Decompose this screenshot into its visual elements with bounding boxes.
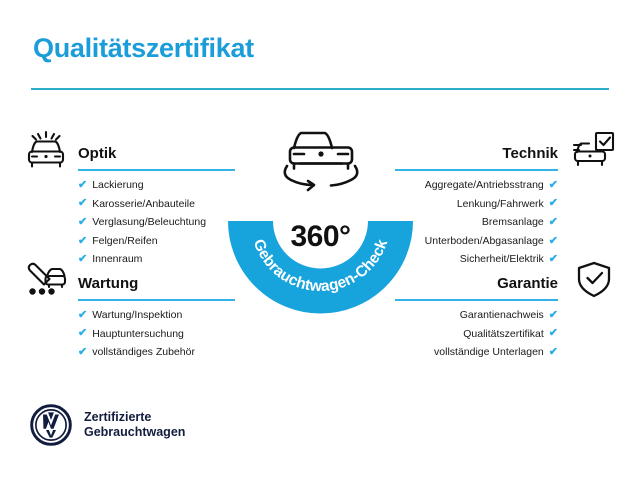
section-wartung: Wartung ✔Wartung/Inspektion ✔Hauptunters… [20, 258, 240, 362]
section-garantie-list: Garantienachweis✔ Qualitätszertifikat✔ v… [395, 306, 558, 362]
check-icon: ✔ [549, 180, 558, 191]
check-icon: ✔ [549, 217, 558, 228]
list-item: Bremsanlage✔ [395, 213, 558, 232]
list-item-label: Unterboden/Abgasanlage [425, 232, 544, 251]
list-item: ✔Hauptuntersuchung [78, 325, 240, 344]
check-icon: ✔ [549, 198, 558, 209]
list-item-label: Karosserie/Anbauteile [92, 195, 195, 214]
section-technik-title: Technik [502, 145, 558, 162]
list-item: ✔Lackierung [78, 176, 240, 195]
list-item-label: Hauptuntersuchung [92, 325, 184, 344]
footer-lockup: Zertifizierte Gebrauchtwagen [30, 404, 185, 446]
check-icon: ✔ [549, 328, 558, 339]
list-item: Garantienachweis✔ [395, 306, 558, 325]
list-item: vollständige Unterlagen✔ [395, 343, 558, 362]
list-item: ✔Karosserie/Anbauteile [78, 195, 240, 214]
page-title: Qualitätszertifikat [33, 33, 254, 64]
badge-ring-svg: Gebrauchtwagen-Check [228, 116, 413, 316]
list-item-label: Bremsanlage [482, 213, 544, 232]
list-item: Qualitätszertifikat✔ [395, 325, 558, 344]
section-garantie-divider [395, 299, 558, 301]
list-item: ✔vollständiges Zubehör [78, 343, 240, 362]
shield-check-icon [568, 258, 620, 302]
check-icon: ✔ [78, 180, 87, 191]
check-icon: ✔ [549, 310, 558, 321]
section-technik-divider [395, 169, 558, 171]
list-item-label: vollständiges Zubehör [92, 343, 195, 362]
car-rotate-icon [285, 133, 358, 190]
section-garantie: Garantie Garantienachweis✔ Qualitätszert… [395, 258, 620, 362]
wrench-car-icon [20, 258, 72, 302]
section-technik: Technik Aggregate/Antriebsstrang✔ Lenkun… [395, 128, 620, 269]
section-wartung-header: Wartung [20, 258, 240, 306]
list-item-label: Aggregate/Antriebsstrang [425, 176, 544, 195]
check-icon: ✔ [549, 347, 558, 358]
footer-text: Zertifizierte Gebrauchtwagen [84, 410, 185, 440]
footer-line-1: Zertifizierte [84, 410, 185, 425]
list-item-label: Qualitätszertifikat [463, 325, 544, 344]
section-wartung-list: ✔Wartung/Inspektion ✔Hauptuntersuchung ✔… [78, 306, 240, 362]
section-garantie-header: Garantie [395, 258, 620, 306]
section-wartung-title: Wartung [78, 275, 138, 292]
check-icon: ✔ [78, 310, 87, 321]
check-icon: ✔ [549, 236, 558, 247]
list-item: Unterboden/Abgasanlage✔ [395, 232, 558, 251]
volkswagen-logo [30, 404, 72, 446]
car-checkbox-icon [568, 128, 620, 172]
check-icon: ✔ [78, 347, 87, 358]
section-wartung-divider [78, 299, 235, 301]
certificate-page: Qualitätszertifikat Optik ✔Lackierun [0, 0, 640, 480]
list-item: Lenkung/Fahrwerk✔ [395, 195, 558, 214]
section-garantie-title: Garantie [497, 275, 558, 292]
section-technik-header: Technik [395, 128, 620, 176]
list-item: Aggregate/Antriebsstrang✔ [395, 176, 558, 195]
list-item-label: Wartung/Inspektion [92, 306, 182, 325]
check-icon: ✔ [78, 328, 87, 339]
section-optik-list: ✔Lackierung ✔Karosserie/Anbauteile ✔Verg… [78, 176, 240, 269]
section-optik-title: Optik [78, 145, 116, 162]
list-item-label: Verglasung/Beleuchtung [92, 213, 206, 232]
list-item-label: Lenkung/Fahrwerk [457, 195, 544, 214]
car-front-lights-icon [20, 128, 72, 172]
list-item-label: Lackierung [92, 176, 143, 195]
badge-degrees-label: 360° [228, 220, 413, 254]
check-icon: ✔ [78, 236, 87, 247]
badge-360-check: Gebrauchtwagen-Check 360° [228, 116, 413, 316]
section-optik-divider [78, 169, 235, 171]
list-item-label: vollständige Unterlagen [434, 343, 544, 362]
list-item-label: Felgen/Reifen [92, 232, 157, 251]
header-divider [31, 88, 609, 90]
section-technik-list: Aggregate/Antriebsstrang✔ Lenkung/Fahrwe… [395, 176, 558, 269]
section-optik-header: Optik [20, 128, 240, 176]
list-item: ✔Wartung/Inspektion [78, 306, 240, 325]
check-icon: ✔ [78, 198, 87, 209]
footer-line-2: Gebrauchtwagen [84, 425, 185, 440]
list-item: ✔Felgen/Reifen [78, 232, 240, 251]
check-icon: ✔ [78, 217, 87, 228]
list-item: ✔Verglasung/Beleuchtung [78, 213, 240, 232]
list-item-label: Garantienachweis [460, 306, 544, 325]
section-optik: Optik ✔Lackierung ✔Karosserie/Anbauteile… [20, 128, 240, 269]
